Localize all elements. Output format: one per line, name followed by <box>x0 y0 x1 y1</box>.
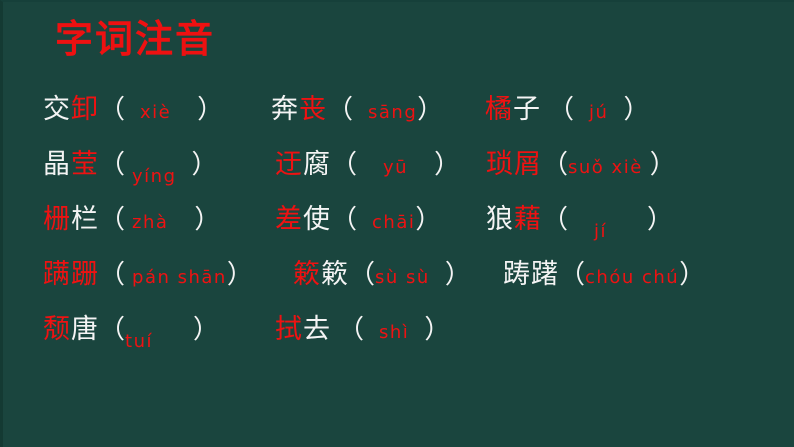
pinyin-text: xiè <box>140 102 171 123</box>
paren-glyph: ） <box>417 95 443 125</box>
paren-glyph: （ <box>331 205 357 235</box>
paren-glyph: ） <box>650 150 676 180</box>
hanzi-char: 栏 <box>71 204 99 235</box>
paren-glyph: （ <box>99 205 125 235</box>
vocabulary-entry: 晶莹（yíng） <box>43 145 218 185</box>
vocabulary-entry: 奔丧（sāng） <box>271 90 443 130</box>
hanzi-char: 腐 <box>303 149 331 180</box>
pinyin-text: shì <box>379 322 409 343</box>
paren-glyph: （ <box>99 95 125 125</box>
hanzi-char: 狼 <box>486 204 514 235</box>
hanzi-char: 躇 <box>531 259 559 290</box>
vocabulary-entry: 簌簌（sù sù） <box>293 255 471 295</box>
hanzi-char: 橘 <box>485 94 513 125</box>
hanzi-char: 唐 <box>71 314 99 345</box>
paren-glyph: ） <box>415 205 441 235</box>
hanzi-char: 簌 <box>293 259 321 290</box>
hanzi-char: 拭 <box>275 314 303 345</box>
paren-glyph: ） <box>197 95 223 125</box>
paren-glyph: ） <box>647 205 673 235</box>
paren-glyph: （ <box>349 260 375 290</box>
hanzi-char: 使 <box>303 204 331 235</box>
pinyin-text: tuí <box>125 331 153 352</box>
vocabulary-entry: 栅栏（zhà） <box>43 200 220 240</box>
vocabulary-entry: 差使（chāi） <box>275 200 441 240</box>
hanzi-char: 交 <box>43 94 71 125</box>
pinyin-text: jí <box>594 221 607 242</box>
hanzi-char: 莹 <box>71 149 99 180</box>
hanzi-char: 藉 <box>514 204 542 235</box>
vocabulary-list: 交卸（xiè）奔丧（sāng）橘子（jú）晶莹（yíng）迂腐（yū）琐屑（su… <box>3 90 794 365</box>
vocabulary-row: 蹒跚（pán shān）簌簌（sù sù）踌躇（chóu chú） <box>3 255 794 310</box>
hanzi-char: 迂 <box>275 149 303 180</box>
paren-glyph: （ <box>542 150 568 180</box>
pinyin-text: chóu chú <box>585 267 679 288</box>
vocabulary-entry: 踌躇（chóu chú） <box>503 255 705 295</box>
pinyin-text: yíng <box>132 166 177 187</box>
vocabulary-entry: 琐屑（suǒ xiè） <box>486 145 676 185</box>
paren-glyph: （ <box>548 95 574 125</box>
paren-glyph: （ <box>327 95 353 125</box>
paren-glyph: ） <box>194 205 220 235</box>
hanzi-char: 卸 <box>71 94 99 125</box>
paren-glyph: （ <box>99 150 125 180</box>
vocabulary-entry: 橘子（jú） <box>485 90 649 130</box>
hanzi-char: 奔 <box>271 94 299 125</box>
paren-glyph: ） <box>434 150 460 180</box>
vocabulary-row: 交卸（xiè）奔丧（sāng）橘子（jú） <box>3 90 794 145</box>
hanzi-char: 簌 <box>321 259 349 290</box>
hanzi-char: 蹒 <box>43 259 71 290</box>
vocabulary-row: 颓唐（tuí）拭去（shì） <box>3 310 794 365</box>
hanzi-char: 屑 <box>514 149 542 180</box>
page-title: 字词注音 <box>55 20 215 58</box>
vocabulary-row: 栅栏（zhà）差使（chāi）狼藉（jí） <box>3 200 794 255</box>
hanzi-char: 颓 <box>43 314 71 345</box>
pinyin-text: jú <box>589 102 608 123</box>
vocabulary-row: 晶莹（yíng）迂腐（yū）琐屑（suǒ xiè） <box>3 145 794 200</box>
vocabulary-entry: 颓唐（tuí） <box>43 310 219 350</box>
paren-glyph: ） <box>192 150 218 180</box>
paren-glyph: ） <box>445 260 471 290</box>
paren-glyph: （ <box>542 205 568 235</box>
paren-glyph: ） <box>623 95 649 125</box>
hanzi-char: 琐 <box>486 149 514 180</box>
pinyin-text: chāi <box>372 212 415 233</box>
pinyin-text: zhà <box>132 212 168 233</box>
pinyin-text: sāng <box>368 102 417 123</box>
paren-glyph: ） <box>227 260 253 290</box>
paren-glyph: （ <box>331 150 357 180</box>
vocabulary-entry: 蹒跚（pán shān） <box>43 255 253 295</box>
paren-glyph: ） <box>679 260 705 290</box>
paren-glyph: （ <box>559 260 585 290</box>
paren-glyph: ） <box>424 315 450 345</box>
paren-glyph: （ <box>99 260 125 290</box>
pinyin-text: sù sù <box>375 267 430 288</box>
hanzi-char: 子 <box>513 94 541 125</box>
vocabulary-entry: 迂腐（yū） <box>275 145 460 185</box>
vocabulary-entry: 狼藉（jí） <box>486 200 673 240</box>
vocabulary-entry: 拭去（shì） <box>275 310 450 350</box>
pinyin-text: suǒ xiè <box>568 157 643 178</box>
hanzi-char: 去 <box>303 314 331 345</box>
slide-canvas: 字词注音 交卸（xiè）奔丧（sāng）橘子（jú）晶莹（yíng）迂腐（yū）… <box>0 0 794 447</box>
hanzi-char: 差 <box>275 204 303 235</box>
hanzi-char: 栅 <box>43 204 71 235</box>
pinyin-text: yū <box>383 157 408 178</box>
paren-glyph: ） <box>193 315 219 345</box>
vocabulary-entry: 交卸（xiè） <box>43 90 223 130</box>
pinyin-text: pán shān <box>132 267 227 288</box>
hanzi-char: 踌 <box>503 259 531 290</box>
paren-glyph: （ <box>99 315 125 345</box>
hanzi-char: 晶 <box>43 149 71 180</box>
hanzi-char: 丧 <box>299 94 327 125</box>
hanzi-char: 跚 <box>71 259 99 290</box>
paren-glyph: （ <box>338 315 364 345</box>
